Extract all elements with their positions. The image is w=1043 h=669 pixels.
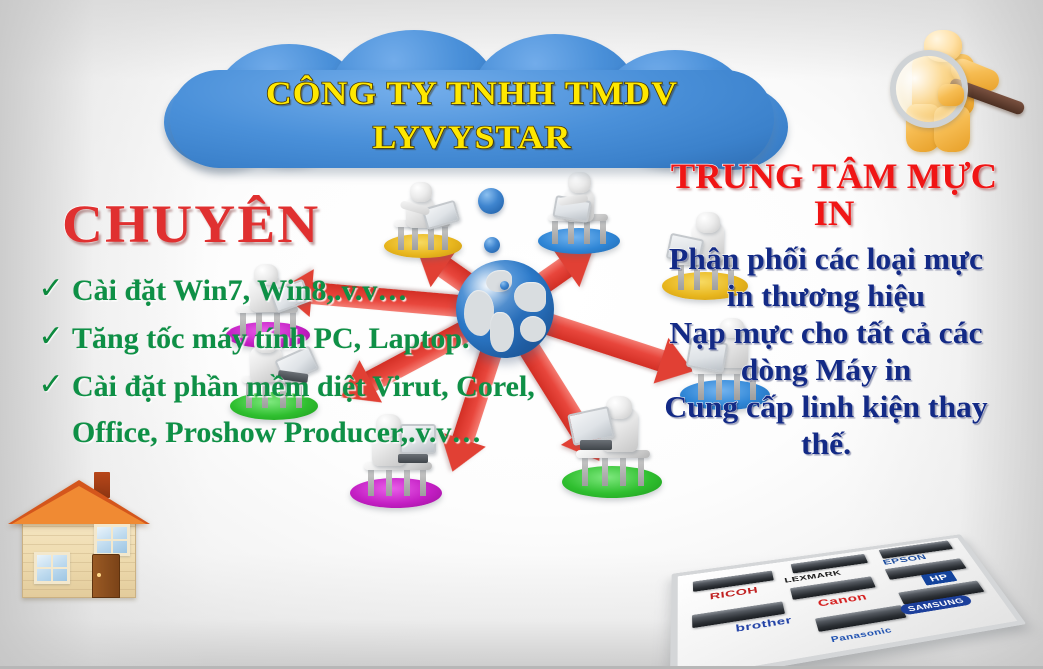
cloud-title-line2: LYVYSTAR (126, 116, 817, 160)
list-item-label: Cài đặt Win7, Win8,.v.v… (36, 268, 556, 314)
right-description-line: dòng Máy in (606, 351, 1043, 388)
workstation-figure (380, 180, 466, 260)
left-heading: CHUYÊN (62, 196, 320, 252)
right-description-line: thế. (606, 425, 1043, 462)
checkmark-icon: ✓ (36, 270, 66, 308)
right-description: Phân phối các loại mực in thương hiệu Nạ… (606, 240, 1043, 462)
decorative-sphere (478, 188, 504, 214)
checkmark-icon: ✓ (36, 366, 66, 404)
list-item-label: Cài đặt phần mềm diệt Virut, Corel, Offi… (36, 364, 556, 456)
cartridge-tray: RICOH LEXMARK EPSON Canon HP brother SAM… (670, 534, 1026, 669)
right-heading-line1: TRUNG TÂM MỰC (624, 158, 1043, 195)
services-list: ✓ Cài đặt Win7, Win8,.v.v… ✓ Tăng tốc má… (36, 268, 556, 458)
right-heading: TRUNG TÂM MỰC IN (624, 158, 1043, 232)
figure-disc (350, 478, 442, 508)
list-item: ✓ Cài đặt Win7, Win8,.v.v… (36, 268, 556, 314)
decorative-sphere (484, 237, 500, 253)
house-window (94, 524, 130, 556)
list-item: ✓ Cài đặt phần mềm diệt Virut, Corel, Of… (36, 364, 556, 456)
right-description-line: Cung cấp linh kiện thay (606, 388, 1043, 425)
list-item-label: Tăng tốc máy tính PC, Laptop. (36, 316, 556, 362)
right-description-line: Phân phối các loại mực (606, 240, 1043, 277)
checkmark-icon: ✓ (36, 318, 66, 356)
right-heading-line2: IN (624, 195, 1043, 232)
figure-disc (384, 234, 462, 258)
right-description-line: in thương hiệu (606, 277, 1043, 314)
figure-disc (562, 466, 662, 498)
house-icon (8, 466, 150, 596)
house-roof-highlight (12, 486, 146, 524)
poster-canvas: CÔNG TY TNHH TMDV LYVYSTAR (0, 0, 1043, 669)
magnifier-man-icon (876, 24, 1036, 156)
magnifier-man-hand (938, 84, 964, 106)
list-item: ✓ Tăng tốc máy tính PC, Laptop. (36, 316, 556, 362)
cloud-title-line1: CÔNG TY TNHH TMDV (126, 72, 817, 116)
house-window (34, 552, 70, 584)
house-door (92, 554, 120, 598)
right-description-line: Nạp mực cho tất cả các (606, 314, 1043, 351)
cloud-title: CÔNG TY TNHH TMDV LYVYSTAR (126, 72, 817, 160)
